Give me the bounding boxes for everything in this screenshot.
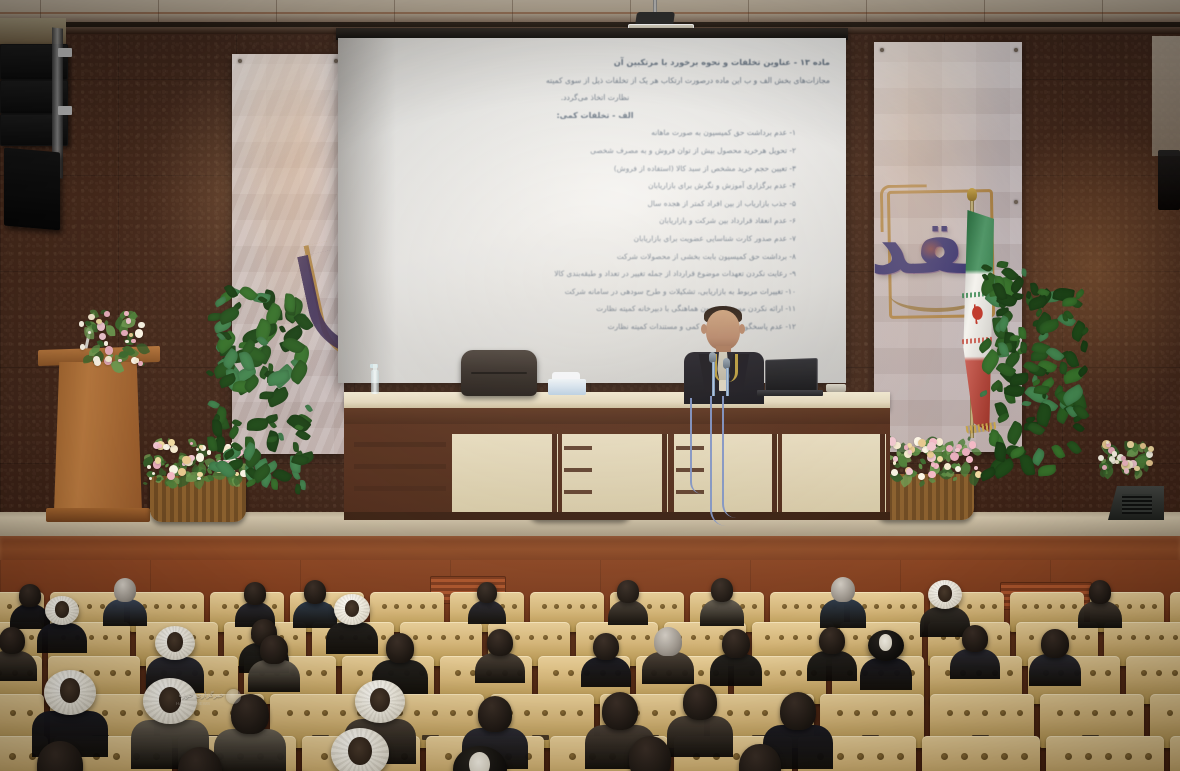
flower-bloom	[927, 442, 936, 451]
seat-perforation	[125, 670, 131, 676]
flower-bloom	[158, 444, 162, 448]
plant-leaf	[284, 293, 297, 312]
seat-perforation	[698, 670, 704, 676]
audience-member	[300, 578, 330, 623]
audience-head	[386, 633, 415, 663]
ceiling-tile-seam	[748, 0, 749, 22]
seat-perforation	[102, 710, 108, 716]
foliage	[136, 342, 150, 358]
plant-leaf	[305, 404, 313, 413]
audience-member	[45, 596, 79, 647]
seat-perforation	[752, 604, 757, 609]
seat-perforation	[1167, 710, 1173, 716]
table-panel-reveal	[880, 434, 885, 512]
flower-bloom	[1124, 468, 1130, 474]
seat-perforation	[1000, 710, 1006, 716]
audience-head	[37, 741, 83, 771]
foliage	[929, 477, 936, 485]
audience-shoulders	[581, 657, 630, 688]
wall-panel-right	[1152, 36, 1180, 156]
seat-perforation	[1085, 753, 1092, 760]
seat-perforation	[897, 753, 904, 760]
panel-table-body	[344, 424, 890, 516]
audience-shoulders	[950, 649, 999, 680]
seat-perforation	[1029, 635, 1034, 640]
ceiling-dark-band	[0, 22, 1180, 27]
flower-bloom	[918, 473, 925, 480]
seat-perforation	[705, 635, 710, 640]
seat-perforation	[414, 710, 420, 716]
flower-bloom	[79, 321, 84, 326]
audience-shoulders	[248, 660, 300, 692]
seat-perforation	[837, 753, 844, 760]
audience-member	[733, 740, 787, 771]
seat-perforation	[890, 710, 896, 716]
seat-perforation	[727, 710, 733, 716]
banner-pin	[1014, 48, 1018, 52]
seat-perforation	[1105, 670, 1111, 676]
flower-bloom	[1112, 451, 1117, 456]
seat-perforation	[1001, 753, 1008, 760]
white-turban	[155, 626, 195, 660]
audience-shoulders	[293, 601, 337, 628]
seat-perforation	[1127, 710, 1133, 716]
seat-perforation	[670, 710, 676, 716]
flower-bloom	[1134, 466, 1139, 471]
audience-area	[0, 560, 1180, 771]
seat-perforation	[577, 710, 583, 716]
seat-perforation	[1140, 604, 1145, 609]
seat-perforation	[149, 635, 154, 640]
audience-member	[0, 624, 29, 675]
seat-perforation	[512, 604, 517, 609]
flower-bloom	[928, 471, 936, 479]
seat-perforation	[560, 710, 566, 716]
audience-member	[815, 624, 849, 675]
seat-perforation	[961, 753, 968, 760]
foliage	[156, 477, 161, 481]
audience-head	[487, 629, 513, 656]
presenter-ear	[701, 324, 707, 334]
audience-head	[739, 744, 780, 771]
flower-bloom	[147, 465, 151, 469]
podium-bouquet	[78, 308, 150, 378]
seat-perforation	[1065, 753, 1072, 760]
audience-head	[477, 582, 497, 603]
seat-perforation	[420, 604, 425, 609]
audience-member	[650, 624, 686, 678]
white-turban	[928, 580, 962, 609]
seat-perforation	[117, 635, 122, 640]
seat-perforation	[853, 635, 858, 640]
seat-perforation	[779, 635, 784, 640]
seat-perforation	[631, 635, 636, 640]
audience-shoulders	[37, 623, 86, 654]
seat-perforation	[237, 635, 242, 640]
plant-leaf	[1021, 269, 1027, 278]
seat-perforation	[981, 753, 988, 760]
stage-monitor-speaker	[1108, 486, 1164, 520]
audience-head	[831, 577, 855, 603]
flower-bloom	[1140, 443, 1146, 449]
seat-perforation	[455, 670, 461, 676]
seat-perforation	[941, 753, 948, 760]
audience-member	[270, 766, 330, 771]
plant-leaf	[247, 418, 269, 432]
seat-perforation	[857, 753, 864, 760]
seat-perforation	[912, 604, 917, 609]
audience-member	[707, 576, 737, 621]
audience-shoulders	[475, 653, 524, 684]
seat-perforation	[427, 635, 432, 640]
table-object	[826, 384, 846, 392]
foliage	[967, 436, 972, 441]
flower-bloom	[190, 442, 193, 445]
audience-head	[1041, 629, 1068, 658]
seat-perforation	[874, 604, 879, 609]
seat-perforation	[782, 604, 787, 609]
seat-perforation	[7, 604, 12, 609]
plant-leaf	[260, 390, 274, 399]
audience-member	[381, 630, 419, 687]
flower-bloom	[969, 441, 976, 448]
flower-bloom	[199, 445, 203, 449]
seat-perforation	[543, 635, 548, 640]
audience-shoulders	[1078, 601, 1122, 628]
flower-bloom	[891, 469, 898, 476]
seat-perforation	[89, 635, 94, 640]
ceiling-seam	[0, 12, 1180, 14]
seat-perforation	[29, 635, 34, 640]
speaker-bracket	[58, 48, 72, 57]
table-panel-slot	[354, 464, 446, 469]
seat-perforation	[554, 604, 559, 609]
seat-perforation	[592, 604, 597, 609]
seat-perforation	[524, 710, 530, 716]
audience-head	[962, 625, 988, 652]
audience-member	[827, 574, 859, 622]
seat-perforation	[542, 710, 548, 716]
seat-perforation	[947, 710, 953, 716]
seat-perforation	[837, 710, 843, 716]
seat-perforation	[660, 604, 665, 609]
ceiling-tile-seam	[158, 0, 159, 22]
audience-member	[155, 626, 195, 686]
flower-bloom	[131, 339, 135, 343]
table-panel-reveal	[552, 434, 557, 512]
seat-perforation	[208, 670, 214, 676]
table-panel-reveal	[662, 434, 667, 512]
laptop-base	[757, 390, 823, 396]
seat-perforation	[293, 635, 298, 640]
seat-perforation	[691, 635, 696, 640]
audience-head	[304, 580, 327, 604]
seat-perforation	[964, 710, 970, 716]
table-panel-slot	[564, 446, 592, 450]
seat-perforation	[980, 604, 985, 609]
audience-head	[654, 627, 681, 656]
seat-perforation	[967, 604, 972, 609]
audience-member	[614, 578, 642, 620]
audience-head	[19, 584, 40, 606]
audience-member	[483, 626, 517, 677]
seat-perforation	[764, 670, 770, 676]
seat-perforation	[557, 635, 562, 640]
seat-perforation	[10, 710, 16, 716]
seat-perforation	[542, 604, 547, 609]
turban-crown	[938, 585, 952, 601]
seat-perforation	[907, 710, 913, 716]
seat-perforation	[796, 670, 802, 676]
seat-perforation	[1060, 604, 1065, 609]
turban-crown	[60, 678, 81, 703]
auditorium-seat	[1046, 736, 1164, 771]
seat-perforation	[992, 604, 997, 609]
flower-bloom	[937, 456, 943, 462]
seat-perforation	[287, 710, 293, 716]
foliage	[953, 477, 958, 481]
seat-perforation	[462, 604, 467, 609]
ceiling-tile-seam	[276, 0, 277, 22]
white-turban	[334, 594, 370, 625]
flower-bloom	[138, 361, 143, 366]
seat-perforation	[1022, 604, 1027, 609]
audience-member	[958, 622, 992, 673]
seat-perforation	[1145, 635, 1150, 640]
white-turban	[331, 728, 389, 771]
foliage	[106, 324, 116, 336]
flower-bloom	[931, 462, 936, 467]
seat-perforation	[1127, 604, 1132, 609]
audience-shoulders	[1029, 654, 1081, 686]
plant-leaf	[1051, 443, 1066, 460]
seat-perforation	[854, 710, 860, 716]
audience-head	[617, 580, 638, 602]
plant-leaf	[1004, 420, 1026, 445]
audience-member	[474, 580, 500, 619]
audience-head	[244, 582, 265, 604]
seat-perforation	[982, 710, 988, 716]
audience-member	[718, 626, 754, 680]
table-panel-slot	[564, 490, 592, 494]
seat-perforation	[192, 604, 197, 609]
seat-perforation	[382, 604, 387, 609]
seat-perforation	[553, 670, 559, 676]
seat-perforation	[469, 635, 474, 640]
flower-bloom	[1109, 456, 1115, 462]
audience-head	[0, 627, 25, 654]
white-turban	[45, 596, 79, 625]
seat-perforation	[154, 604, 159, 609]
presenter-head	[706, 310, 740, 350]
audience-member	[16, 582, 44, 624]
flower-bloom	[962, 448, 970, 456]
watermark-subtext: HAWZAH NEWS	[152, 701, 210, 706]
audience-member	[30, 736, 90, 771]
plant-leaf	[1079, 340, 1089, 352]
flower-bloom	[99, 333, 106, 340]
seat-perforation	[569, 753, 576, 760]
audience-shoulders	[326, 622, 378, 654]
seat-perforation	[909, 635, 914, 640]
seat-perforation	[1047, 604, 1052, 609]
seat-perforation	[87, 604, 92, 609]
foliage	[920, 457, 926, 464]
seat-perforation	[304, 710, 310, 716]
audience-shoulders	[103, 599, 147, 626]
audience-head	[683, 684, 718, 721]
seat-perforation	[1072, 604, 1077, 609]
white-turban	[355, 680, 405, 723]
flower-bloom	[1146, 451, 1153, 458]
seat-perforation	[455, 635, 460, 640]
flower-bloom	[135, 358, 140, 363]
seat-perforation	[407, 604, 412, 609]
seat-perforation	[672, 604, 677, 609]
flower-bloom	[908, 450, 912, 454]
seat-perforation	[1105, 753, 1112, 760]
turban-crown	[348, 737, 371, 765]
audience-member	[1037, 626, 1073, 680]
turban-crown	[345, 600, 359, 617]
audience-member	[331, 728, 389, 771]
tissue-box	[548, 379, 586, 395]
seat-perforation	[529, 635, 534, 640]
microphone-cable	[722, 396, 736, 518]
seat-perforation	[445, 753, 452, 760]
flag-finial-icon	[967, 188, 977, 201]
plant-leaf	[1066, 439, 1082, 456]
seat-perforation	[1173, 635, 1178, 640]
seat-perforation	[321, 753, 328, 760]
audience-head	[819, 627, 845, 654]
podium-body	[54, 362, 142, 512]
seat-perforation	[450, 710, 456, 716]
seat-perforation	[1141, 670, 1147, 676]
chair-backrest	[461, 350, 537, 396]
audience-member	[928, 580, 962, 631]
audience-member	[453, 746, 507, 771]
plant-leaf	[214, 296, 228, 308]
watermark: خبرگزاری حوزه HAWZAH NEWS	[152, 686, 244, 710]
auditorium-seat	[922, 736, 1040, 771]
presenter-figure	[678, 306, 770, 398]
seat-perforation	[765, 635, 770, 640]
microphone-stem	[712, 362, 715, 396]
flower-bloom	[1148, 446, 1154, 452]
seat-perforation	[340, 710, 346, 716]
seat-perforation	[1085, 635, 1090, 640]
flower-bloom	[138, 322, 145, 329]
audience-member	[589, 630, 623, 681]
audience-member	[256, 632, 292, 686]
audience-head	[1089, 580, 1112, 604]
plant-leaf	[978, 389, 988, 397]
plant-leaf	[1009, 373, 1029, 387]
foliage	[142, 481, 147, 486]
microphone-cable	[690, 398, 702, 494]
flower-bloom	[168, 439, 175, 446]
seat-perforation	[357, 670, 363, 676]
ceiling-tile-seam	[512, 0, 513, 22]
ceiling-tile-seam	[866, 0, 867, 22]
microphone-stem	[726, 368, 729, 396]
audience-member	[171, 742, 229, 771]
seat-perforation	[272, 604, 277, 609]
flower-bloom	[1115, 460, 1119, 464]
plant-leaf	[979, 467, 997, 482]
calligraphy-accent	[918, 238, 944, 260]
plant-leaf	[278, 433, 284, 442]
plant-leaf	[1026, 416, 1035, 422]
audience-shoulders	[807, 651, 856, 682]
seat-perforation	[223, 670, 229, 676]
seat-perforation	[432, 604, 437, 609]
seat-perforation	[167, 604, 172, 609]
seat-perforation	[567, 604, 572, 609]
speaker-lower-box	[4, 148, 60, 231]
banner-pin	[238, 59, 242, 63]
black-turban	[453, 746, 507, 771]
seat-perforation	[1152, 604, 1157, 609]
seat-perforation	[807, 604, 812, 609]
audience-head	[478, 696, 513, 733]
seat-perforation	[1092, 710, 1098, 716]
seat-perforation	[580, 604, 585, 609]
seat-perforation	[887, 604, 892, 609]
flower-arrangement	[1098, 440, 1156, 480]
seat-perforation	[1021, 753, 1028, 760]
foliage	[918, 480, 926, 487]
flower-bloom	[950, 452, 959, 461]
seat-perforation	[568, 670, 574, 676]
seat-perforation	[1172, 670, 1178, 676]
watermark-text: خبرگزاری حوزه	[152, 691, 224, 699]
audience-head	[260, 635, 287, 664]
seat-perforation	[1145, 753, 1152, 760]
seat-perforation	[9, 753, 16, 760]
seat-perforation	[321, 670, 327, 676]
seat-perforation	[441, 635, 446, 640]
flower-bloom	[1146, 460, 1152, 466]
seat-perforation	[1017, 710, 1023, 716]
flower-bloom	[1122, 460, 1128, 466]
seat-perforation	[1110, 710, 1116, 716]
audience-head	[178, 747, 222, 771]
flower-bloom	[94, 359, 101, 366]
flower-bloom	[105, 346, 113, 354]
seat-perforation	[1156, 670, 1162, 676]
ceiling-tile-seam	[394, 0, 395, 22]
turban-crown	[879, 634, 893, 651]
seat-perforation	[432, 710, 438, 716]
audience-head	[722, 629, 749, 658]
plant-leaf	[1038, 464, 1057, 476]
banner-pin	[1014, 200, 1018, 204]
seat-perforation	[877, 753, 884, 760]
audience-shoulders	[700, 599, 744, 626]
flower-bloom	[149, 477, 152, 480]
audience-member	[1085, 578, 1115, 623]
seat-perforation	[900, 604, 905, 609]
turban-crown	[469, 752, 490, 771]
table-panel-slot	[564, 468, 592, 472]
seat-perforation	[180, 604, 185, 609]
watermark-emblem-icon	[226, 689, 241, 704]
audience-head	[602, 692, 638, 730]
seat-perforation	[1007, 670, 1013, 676]
flower-bloom	[88, 331, 91, 334]
